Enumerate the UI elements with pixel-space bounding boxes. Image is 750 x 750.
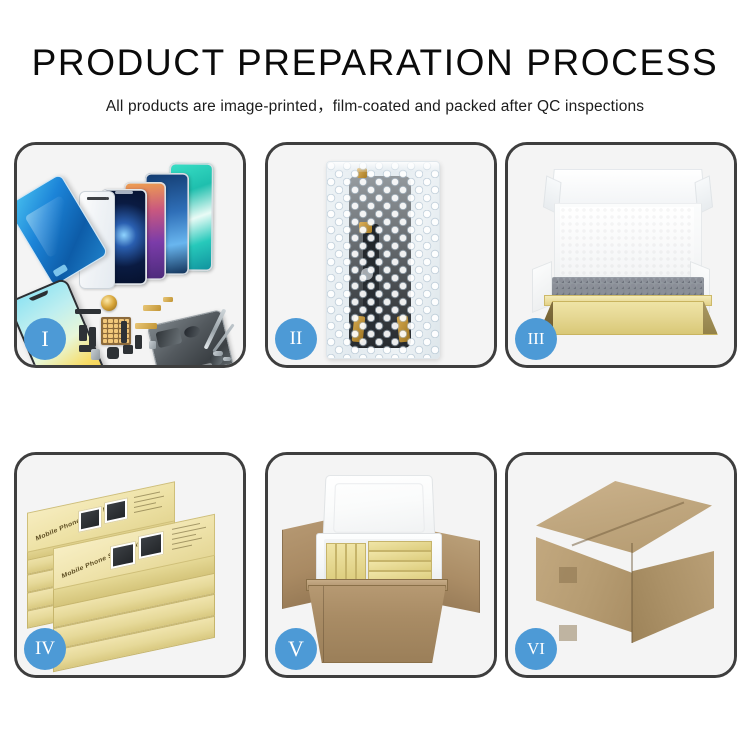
carton-tape-patch — [559, 567, 577, 583]
box-print-phone-image — [110, 541, 136, 571]
box-front-wall — [538, 301, 718, 335]
film-camera-hole — [106, 197, 109, 200]
spare-part — [149, 341, 156, 349]
bubble-texture — [327, 162, 439, 358]
chassis-battery-strip — [167, 363, 213, 365]
chassis-camera-module — [155, 327, 182, 348]
process-step-3[interactable]: III — [505, 142, 737, 368]
step-badge: VI — [515, 628, 557, 670]
spare-part — [143, 305, 161, 311]
step-badge: III — [515, 318, 557, 360]
cooler-interior — [324, 539, 432, 581]
step-badge: II — [275, 318, 317, 360]
process-step-2[interactable]: II — [265, 142, 497, 368]
packed-retail-box — [346, 543, 356, 581]
box-print-phone-image — [138, 531, 164, 561]
carton-vertical-edge — [631, 543, 633, 643]
spare-part — [163, 297, 173, 302]
film-speaker-slot — [87, 197, 107, 200]
chassis-lens — [183, 325, 201, 339]
film-tab — [53, 264, 69, 277]
notch-icon — [115, 191, 133, 194]
bubble-wrap-bag — [326, 161, 440, 359]
spare-part — [89, 327, 96, 347]
packed-retail-box — [368, 551, 432, 561]
process-step-1[interactable]: I — [14, 142, 246, 368]
packed-retail-box — [368, 541, 432, 551]
spare-part — [79, 325, 87, 341]
carton-crease — [323, 586, 324, 662]
box-tab-right — [703, 302, 717, 334]
gold-component-icon — [101, 295, 117, 311]
box-print-text-line — [172, 545, 192, 551]
step-badge: IV — [24, 628, 66, 670]
packed-retail-box — [356, 543, 366, 581]
spare-part — [135, 335, 142, 349]
process-step-grid: I II — [0, 0, 750, 750]
screw-part — [223, 357, 231, 361]
process-step-5[interactable]: V — [265, 452, 497, 678]
step-badge: V — [275, 628, 317, 670]
carton-body — [308, 585, 446, 663]
spare-part — [121, 321, 127, 343]
step-badge: I — [24, 318, 66, 360]
bag-seal — [327, 162, 439, 172]
process-step-4[interactable]: Mobile Phone Spare Parts Mobile Phone Sp… — [14, 452, 246, 678]
notch-icon — [29, 290, 49, 301]
box-print-phone-image — [78, 506, 102, 533]
packed-retail-box — [336, 543, 346, 581]
carton-right-face — [632, 551, 714, 643]
spare-part — [135, 323, 157, 329]
foam-liner — [560, 207, 694, 275]
carton-top-seam — [536, 481, 712, 553]
spare-part — [107, 347, 119, 359]
product-preparation-infographic: PRODUCT PREPARATION PROCESS All products… — [0, 0, 750, 750]
carton-tape-patch — [559, 625, 577, 641]
box-print-phone-image — [104, 497, 128, 524]
process-step-6[interactable]: VI — [505, 452, 737, 678]
spare-part — [91, 349, 100, 360]
packed-retail-box — [326, 543, 336, 581]
spare-part — [75, 309, 101, 314]
spare-part — [123, 345, 133, 354]
packed-retail-box — [368, 561, 432, 571]
